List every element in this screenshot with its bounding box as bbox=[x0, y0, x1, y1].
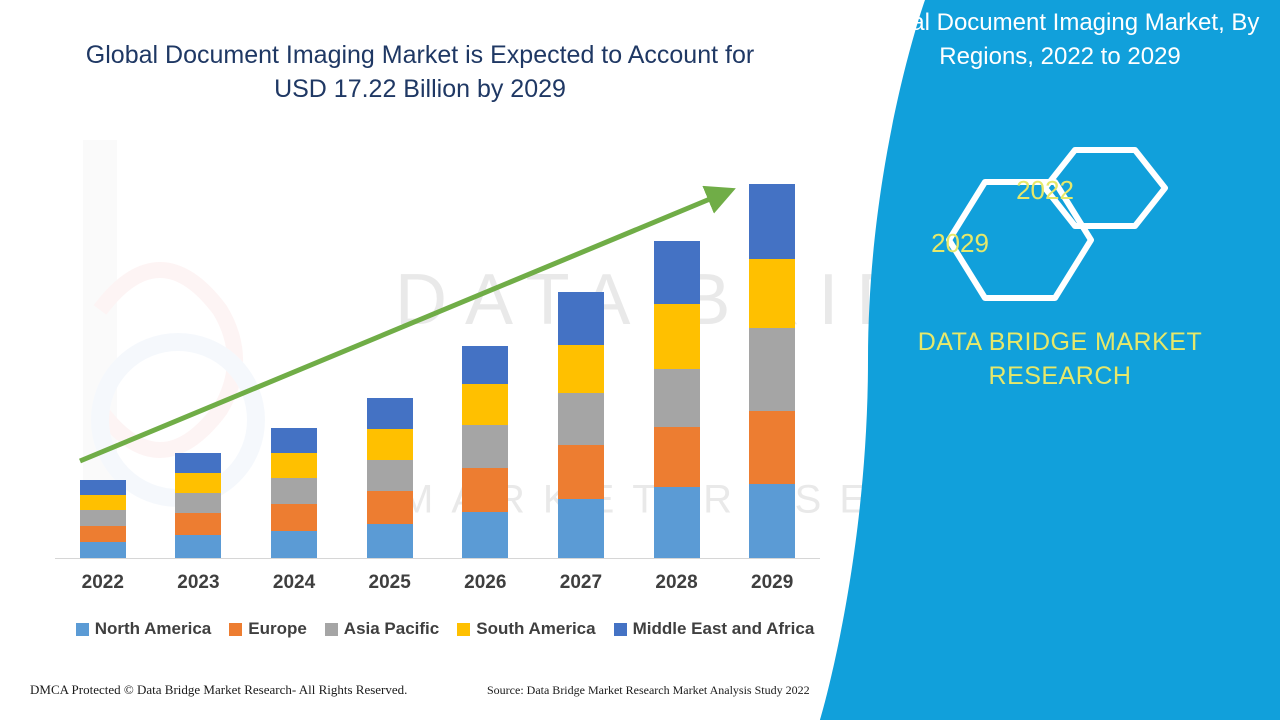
legend-item-4[interactable]: Middle East and Africa bbox=[614, 619, 815, 639]
bar-segment-2022-1 bbox=[80, 526, 126, 542]
bar-segment-2025-1 bbox=[367, 491, 413, 524]
bar-segment-2028-0 bbox=[654, 487, 700, 559]
legend-item-0[interactable]: North America bbox=[76, 619, 212, 639]
dmca-notice: DMCA Protected © Data Bridge Market Rese… bbox=[30, 682, 407, 698]
x-label-2023: 2023 bbox=[151, 572, 247, 602]
bar-segment-2026-4 bbox=[462, 346, 508, 384]
x-label-2029: 2029 bbox=[724, 572, 820, 602]
bar-segment-2023-1 bbox=[175, 513, 221, 535]
x-axis-labels: 20222023202420252026202720282029 bbox=[55, 572, 820, 602]
bar-segment-2022-2 bbox=[80, 510, 126, 526]
chart-plot-area bbox=[55, 150, 820, 559]
bar-segment-2022-3 bbox=[80, 495, 126, 510]
bar-segment-2027-1 bbox=[558, 445, 604, 499]
legend-label: South America bbox=[476, 619, 595, 639]
bar-segment-2027-3 bbox=[558, 345, 604, 393]
x-axis-line bbox=[55, 558, 820, 559]
brand-name: DATA BRIDGE MARKET RESEARCH bbox=[860, 325, 1260, 393]
bar-segment-2026-3 bbox=[462, 384, 508, 425]
bar-segment-2024-0 bbox=[271, 531, 317, 559]
bar-segment-2023-3 bbox=[175, 473, 221, 493]
bar-segment-2022-4 bbox=[80, 480, 126, 495]
bar-segment-2029-3 bbox=[749, 259, 795, 328]
bar-2025 bbox=[367, 398, 413, 559]
legend-swatch-icon bbox=[614, 623, 627, 636]
bar-segment-2024-3 bbox=[271, 453, 317, 478]
hexagon-label-2022: 2022 bbox=[885, 175, 1205, 206]
x-label-2028: 2028 bbox=[629, 572, 725, 602]
bar-segment-2024-1 bbox=[271, 504, 317, 531]
hexagon-group: 2029 2022 bbox=[935, 140, 1255, 310]
legend-swatch-icon bbox=[229, 623, 242, 636]
legend-label: North America bbox=[95, 619, 212, 639]
legend-swatch-icon bbox=[457, 623, 470, 636]
bar-2023 bbox=[175, 453, 221, 559]
legend-item-1[interactable]: Europe bbox=[229, 619, 307, 639]
legend-label: Middle East and Africa bbox=[633, 619, 815, 639]
footer: DMCA Protected © Data Bridge Market Rese… bbox=[0, 682, 860, 706]
right-panel: Global Document Imaging Market, By Regio… bbox=[820, 0, 1280, 720]
bar-segment-2023-4 bbox=[175, 453, 221, 473]
bar-2028 bbox=[654, 241, 700, 559]
chart-container: 20222023202420252026202720282029 bbox=[0, 0, 860, 720]
bar-segment-2026-1 bbox=[462, 468, 508, 512]
legend-item-2[interactable]: Asia Pacific bbox=[325, 619, 439, 639]
bar-segment-2029-4 bbox=[749, 184, 795, 259]
bar-segment-2024-4 bbox=[271, 428, 317, 453]
legend-swatch-icon bbox=[76, 623, 89, 636]
bar-segment-2026-0 bbox=[462, 512, 508, 559]
bar-segment-2024-2 bbox=[271, 478, 317, 504]
legend-swatch-icon bbox=[325, 623, 338, 636]
bar-segment-2029-2 bbox=[749, 328, 795, 411]
x-label-2022: 2022 bbox=[55, 572, 151, 602]
bar-segment-2025-2 bbox=[367, 460, 413, 491]
bar-segment-2026-2 bbox=[462, 425, 508, 468]
bar-segment-2027-0 bbox=[558, 499, 604, 559]
bar-segment-2029-0 bbox=[749, 484, 795, 559]
bar-segment-2027-4 bbox=[558, 292, 604, 345]
bar-2029 bbox=[749, 184, 795, 559]
bar-segment-2025-4 bbox=[367, 398, 413, 429]
panel-title: Global Document Imaging Market, By Regio… bbox=[850, 0, 1270, 74]
bar-segment-2028-2 bbox=[654, 369, 700, 427]
x-label-2026: 2026 bbox=[438, 572, 534, 602]
bar-2024 bbox=[271, 428, 317, 559]
bar-segment-2025-3 bbox=[367, 429, 413, 460]
x-label-2024: 2024 bbox=[246, 572, 342, 602]
source-note: Source: Data Bridge Market Research Mark… bbox=[487, 683, 810, 698]
bar-segment-2029-1 bbox=[749, 411, 795, 484]
legend-item-3[interactable]: South America bbox=[457, 619, 595, 639]
bar-2026 bbox=[462, 346, 508, 559]
x-label-2025: 2025 bbox=[342, 572, 438, 602]
bar-2022 bbox=[80, 480, 126, 559]
bar-segment-2023-2 bbox=[175, 493, 221, 513]
bar-segment-2025-0 bbox=[367, 524, 413, 559]
bar-segment-2027-2 bbox=[558, 393, 604, 445]
hexagon-icon bbox=[935, 140, 1255, 310]
legend-label: Asia Pacific bbox=[344, 619, 439, 639]
x-label-2027: 2027 bbox=[533, 572, 629, 602]
bar-segment-2022-0 bbox=[80, 542, 126, 559]
bar-2027 bbox=[558, 292, 604, 559]
bar-segment-2028-1 bbox=[654, 427, 700, 487]
legend-label: Europe bbox=[248, 619, 307, 639]
chart-legend: North AmericaEuropeAsia PacificSouth Ame… bbox=[55, 615, 835, 643]
bar-segment-2023-0 bbox=[175, 535, 221, 559]
bar-segment-2028-4 bbox=[654, 241, 700, 304]
bar-segment-2028-3 bbox=[654, 304, 700, 369]
